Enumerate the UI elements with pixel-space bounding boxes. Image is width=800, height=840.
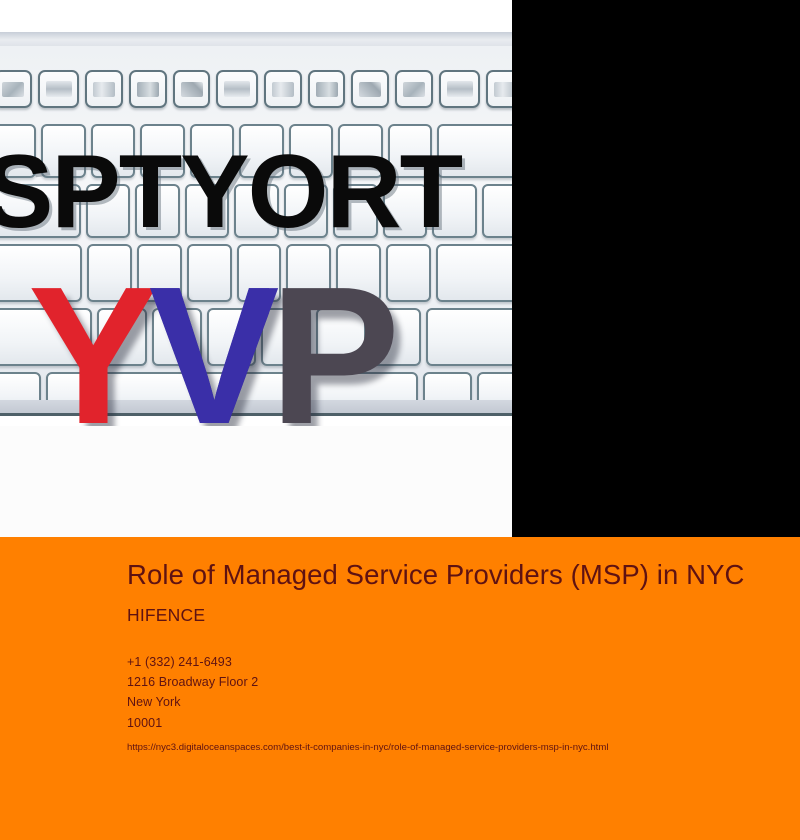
mission-control-icon bbox=[181, 82, 203, 97]
fn-key-brightness-icon bbox=[85, 70, 123, 108]
contact-postal-code: 10001 bbox=[127, 713, 767, 733]
hero-letter-v: V bbox=[149, 246, 270, 426]
hero-headline-text: SPTYORT bbox=[0, 140, 512, 244]
launchpad-icon bbox=[224, 81, 250, 97]
keyboard-key bbox=[426, 308, 512, 366]
fn-key-window-icon bbox=[38, 70, 80, 108]
fn-key-volume-up-icon bbox=[486, 70, 512, 108]
brightness-icon bbox=[93, 82, 115, 97]
hero-logo-lettering: YVP bbox=[28, 258, 390, 426]
volume-up-icon bbox=[494, 82, 512, 97]
keyboard-key bbox=[436, 244, 512, 302]
hero-letter-y: Y bbox=[28, 246, 149, 426]
hero-letter-p: P bbox=[269, 246, 390, 426]
fn-key-rewind-icon bbox=[264, 70, 302, 108]
fn-key-mission-control-icon bbox=[173, 70, 211, 108]
hero-image: SPTYORT YVP bbox=[0, 32, 512, 426]
fn-key-forward-icon bbox=[351, 70, 389, 108]
fn-key-volume-down-icon bbox=[439, 70, 481, 108]
keyboard-key bbox=[386, 244, 431, 302]
keyboard-light-icon bbox=[137, 82, 159, 97]
page-root: SPTYORT YVP Role of Managed Service Prov… bbox=[0, 0, 800, 840]
fn-key-screen-icon bbox=[0, 70, 32, 108]
contact-block: +1 (332) 241-6493 1216 Broadway Floor 2 … bbox=[127, 652, 767, 733]
screen-icon bbox=[2, 82, 24, 97]
window-icon bbox=[46, 81, 72, 97]
info-panel: Role of Managed Service Providers (MSP) … bbox=[0, 537, 800, 840]
contact-city: New York bbox=[127, 692, 767, 712]
keyboard-top-bezel bbox=[0, 32, 512, 46]
fn-key-keyboard-light-icon bbox=[129, 70, 167, 108]
info-content: Role of Managed Service Providers (MSP) … bbox=[127, 560, 767, 753]
contact-street: 1216 Broadway Floor 2 bbox=[127, 672, 767, 692]
contact-phone: +1 (332) 241-6493 bbox=[127, 652, 767, 672]
function-key-row bbox=[0, 70, 512, 108]
mute-icon bbox=[403, 82, 425, 97]
volume-down-icon bbox=[447, 81, 473, 97]
media-bottom-padding bbox=[0, 426, 512, 537]
fn-key-launchpad-icon bbox=[216, 70, 258, 108]
rewind-icon bbox=[272, 82, 294, 97]
page-title: Role of Managed Service Providers (MSP) … bbox=[127, 560, 757, 591]
play-pause-icon bbox=[316, 82, 338, 97]
forward-icon bbox=[359, 82, 381, 97]
media-zone: SPTYORT YVP bbox=[0, 0, 512, 537]
fn-key-mute-icon bbox=[395, 70, 433, 108]
fn-key-play-pause-icon bbox=[308, 70, 346, 108]
source-url[interactable]: https://nyc3.digitaloceanspaces.com/best… bbox=[127, 742, 767, 753]
brand-name: HIFENCE bbox=[127, 605, 767, 626]
